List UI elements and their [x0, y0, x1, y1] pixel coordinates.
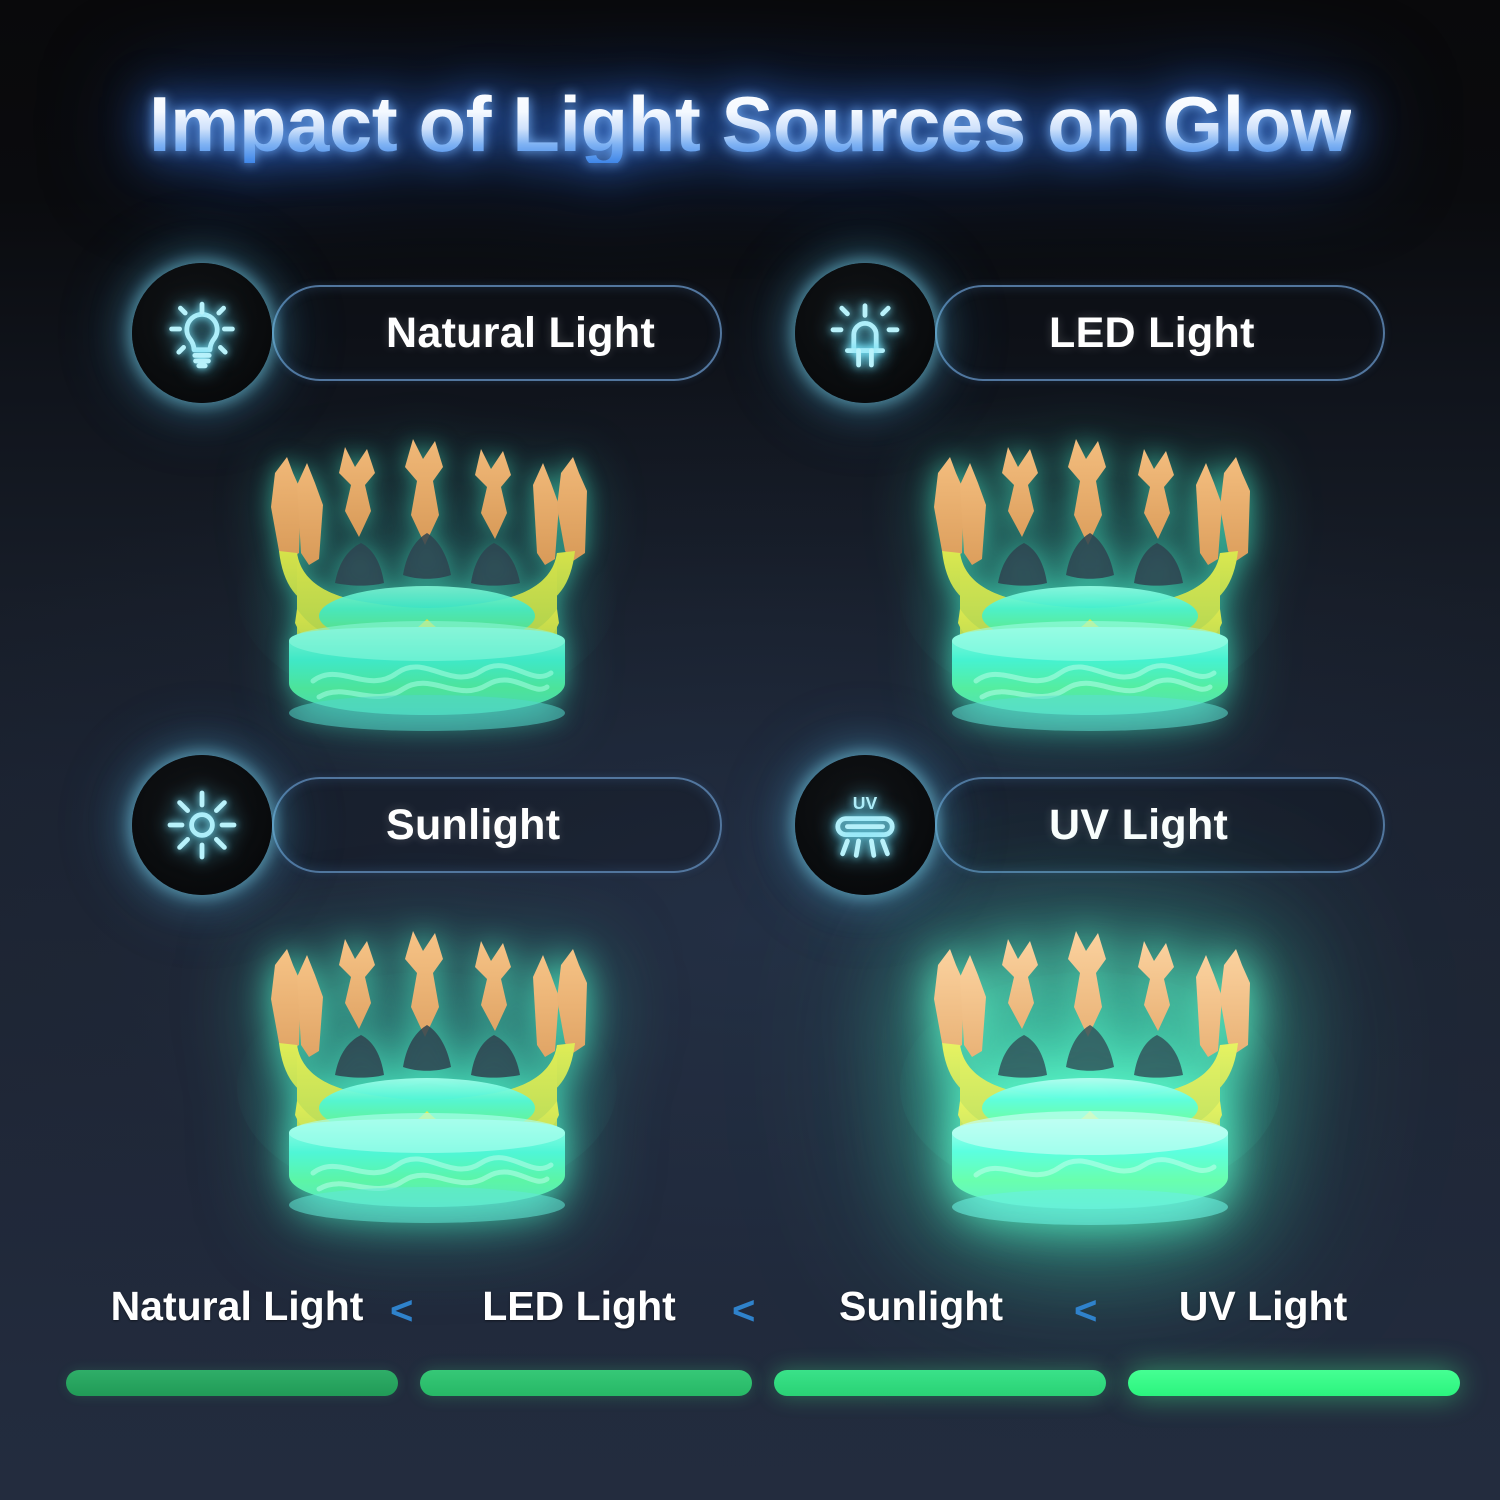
sun-icon-badge[interactable]	[132, 755, 272, 895]
lightbulb-icon	[162, 293, 242, 373]
page-title: Impact of Light Sources on Glow	[149, 85, 1351, 163]
crown-stage	[795, 403, 1385, 733]
crown-image	[890, 433, 1290, 733]
crown-image	[227, 925, 627, 1225]
panel-header: Sunlight	[132, 755, 722, 895]
page-title-wrap: Impact of Light Sources on Glow	[0, 85, 1500, 163]
crown-stage	[132, 403, 722, 733]
infographic-page: Impact of Light Sources on Glow Natural …	[0, 0, 1500, 1500]
panel-label: LED Light	[1049, 309, 1255, 358]
scale-label: Sunlight	[750, 1283, 1092, 1330]
uv-lamp-icon: UV	[825, 785, 905, 865]
scale-item-led-light: < LED Light	[408, 1283, 750, 1433]
panel-header: UV Light UV	[795, 755, 1385, 895]
scale-label: Natural Light	[66, 1283, 408, 1330]
label-pill[interactable]: UV Light	[935, 777, 1385, 873]
scale-bar	[774, 1370, 1106, 1396]
panel-uv-light: UV Light UV	[795, 755, 1385, 1225]
panel-header: LED Light	[795, 263, 1385, 403]
panel-natural-light: Natural Light	[132, 263, 722, 733]
scale-bar	[66, 1370, 398, 1396]
panel-led-light: LED Light	[795, 263, 1385, 733]
panel-header: Natural Light	[132, 263, 722, 403]
glow-scale: Natural Light < LED Light < Sunlight < U…	[66, 1283, 1434, 1433]
panel-sunlight: Sunlight	[132, 755, 722, 1225]
scale-bar	[420, 1370, 752, 1396]
panel-label: Natural Light	[386, 309, 655, 358]
scale-bar	[1128, 1370, 1460, 1396]
scale-item-uv-light: < UV Light	[1092, 1283, 1434, 1433]
crown-image	[227, 433, 627, 733]
panel-label: UV Light	[1049, 801, 1228, 850]
crown-image	[890, 925, 1290, 1225]
uv-icon-text: UV	[853, 793, 878, 813]
panel-label: Sunlight	[386, 801, 560, 850]
led-diode-icon	[825, 293, 905, 373]
label-pill[interactable]: Natural Light	[272, 285, 722, 381]
lightbulb-icon-badge[interactable]	[132, 263, 272, 403]
label-pill[interactable]: LED Light	[935, 285, 1385, 381]
scale-item-natural-light: Natural Light	[66, 1283, 408, 1433]
sun-icon	[162, 785, 242, 865]
label-pill[interactable]: Sunlight	[272, 777, 722, 873]
led-diode-icon-badge[interactable]	[795, 263, 935, 403]
crown-stage	[132, 895, 722, 1225]
scale-label: UV Light	[1092, 1283, 1434, 1330]
scale-item-sunlight: < Sunlight	[750, 1283, 1092, 1433]
scale-label: LED Light	[408, 1283, 750, 1330]
crown-stage	[795, 895, 1385, 1225]
uv-lamp-icon-badge[interactable]: UV	[795, 755, 935, 895]
